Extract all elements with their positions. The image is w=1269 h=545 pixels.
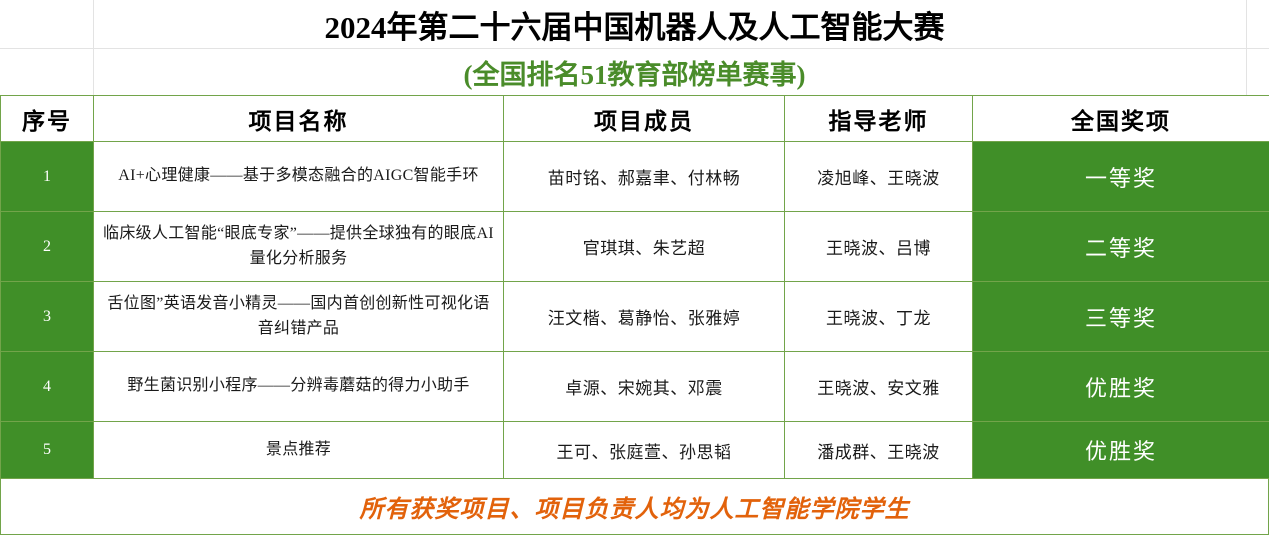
cell-award: 优胜奖: [973, 352, 1269, 422]
cell-index: 5: [1, 422, 94, 479]
column-header-project-name: 项目名称: [94, 96, 504, 142]
cell-project-name: 景点推荐: [94, 422, 504, 479]
table-header: 序号 项目名称 项目成员 指导老师 全国奖项: [1, 96, 1269, 142]
awards-table: 序号 项目名称 项目成员 指导老师 全国奖项 1 AI+心理健康——基于多模态融…: [0, 95, 1269, 479]
gridline-horizontal-1: [0, 48, 1269, 49]
footer-note: 所有获奖项目、项目负责人均为人工智能学院学生: [360, 489, 910, 524]
cell-tutors: 潘成群、王晓波: [785, 422, 973, 479]
cell-tutors: 王晓波、丁龙: [785, 282, 973, 352]
cell-members: 苗时铭、郝嘉聿、付林畅: [504, 142, 785, 212]
gridline-vertical-2: [1246, 0, 1247, 95]
gridline-vertical-1: [93, 0, 94, 95]
cell-tutors: 王晓波、安文雅: [785, 352, 973, 422]
cell-members: 卓源、宋婉其、邓震: [504, 352, 785, 422]
column-header-members: 项目成员: [504, 96, 785, 142]
cell-index: 2: [1, 212, 94, 282]
cell-project-name: 舌位图”英语发音小精灵——国内首创创新性可视化语音纠错产品: [94, 282, 504, 352]
table-header-row: 序号 项目名称 项目成员 指导老师 全国奖项: [1, 96, 1269, 142]
cell-members: 汪文楷、葛静怡、张雅婷: [504, 282, 785, 352]
cell-project-name: AI+心理健康——基于多模态融合的AIGC智能手环: [94, 142, 504, 212]
table-row: 1 AI+心理健康——基于多模态融合的AIGC智能手环 苗时铭、郝嘉聿、付林畅 …: [1, 142, 1269, 212]
cell-members: 王可、张庭萱、孙思韬: [504, 422, 785, 479]
table-row: 2 临床级人工智能“眼底专家”——提供全球独有的眼底AI量化分析服务 官琪琪、朱…: [1, 212, 1269, 282]
cell-project-name: 野生菌识别小程序——分辨毒蘑菇的得力小助手: [94, 352, 504, 422]
cell-award: 一等奖: [973, 142, 1269, 212]
cell-index: 1: [1, 142, 94, 212]
title-row: 2024年第二十六届中国机器人及人工智能大赛: [0, 0, 1269, 49]
cell-tutors: 凌旭峰、王晓波: [785, 142, 973, 212]
column-header-tutors: 指导老师: [785, 96, 973, 142]
page-title: 2024年第二十六届中国机器人及人工智能大赛: [325, 2, 945, 47]
table-row: 4 野生菌识别小程序——分辨毒蘑菇的得力小助手 卓源、宋婉其、邓震 王晓波、安文…: [1, 352, 1269, 422]
table-row: 3 舌位图”英语发音小精灵——国内首创创新性可视化语音纠错产品 汪文楷、葛静怡、…: [1, 282, 1269, 352]
column-header-award: 全国奖项: [973, 96, 1269, 142]
cell-project-name: 临床级人工智能“眼底专家”——提供全球独有的眼底AI量化分析服务: [94, 212, 504, 282]
subtitle-row: (全国排名51教育部榜单赛事): [0, 49, 1269, 95]
page-subtitle: (全国排名51教育部榜单赛事): [464, 53, 806, 92]
cell-members: 官琪琪、朱艺超: [504, 212, 785, 282]
cell-award: 三等奖: [973, 282, 1269, 352]
cell-award: 二等奖: [973, 212, 1269, 282]
cell-index: 3: [1, 282, 94, 352]
table-body: 1 AI+心理健康——基于多模态融合的AIGC智能手环 苗时铭、郝嘉聿、付林畅 …: [1, 142, 1269, 479]
footer-note-row: 所有获奖项目、项目负责人均为人工智能学院学生: [0, 479, 1269, 535]
table-row: 5 景点推荐 王可、张庭萱、孙思韬 潘成群、王晓波 优胜奖: [1, 422, 1269, 479]
cell-award: 优胜奖: [973, 422, 1269, 479]
awards-sheet: 2024年第二十六届中国机器人及人工智能大赛 (全国排名51教育部榜单赛事) 序…: [0, 0, 1269, 545]
cell-index: 4: [1, 352, 94, 422]
cell-tutors: 王晓波、吕博: [785, 212, 973, 282]
column-header-index: 序号: [1, 96, 94, 142]
